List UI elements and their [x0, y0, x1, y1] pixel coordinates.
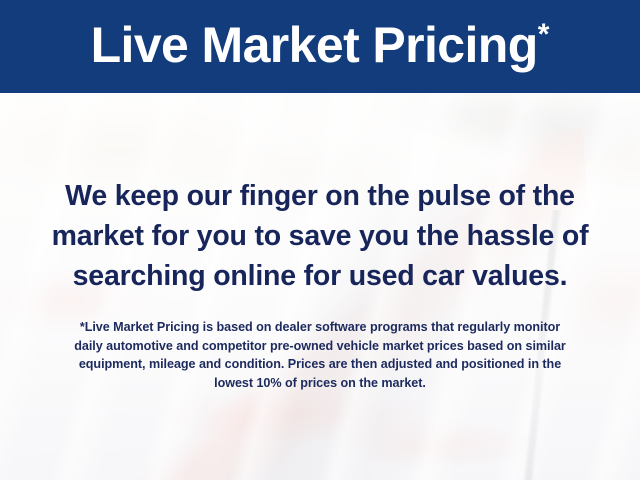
disclaimer-line-2: daily automotive and competitor pre-owne… [0, 337, 640, 356]
title-footnote-marker: * [538, 18, 550, 51]
headline-line-2: market for you to save you the hassle of [0, 216, 640, 256]
disclaimer-line-3: equipment, mileage and condition. Prices… [0, 355, 640, 374]
disclaimer-line-4: lowest 10% of prices on the market. [0, 374, 640, 393]
headline-line-1: We keep our finger on the pulse of the [0, 176, 640, 216]
disclaimer-paragraph: *Live Market Pricing is based on dealer … [0, 318, 640, 392]
headline-line-3: searching online for used car values. [0, 256, 640, 296]
page-title-text: Live Market Pricing [91, 17, 538, 73]
disclaimer-line-1: *Live Market Pricing is based on dealer … [0, 318, 640, 337]
headline-paragraph: We keep our finger on the pulse of the m… [0, 176, 640, 296]
page-title: Live Market Pricing* [91, 20, 550, 74]
header-band: Live Market Pricing* [0, 0, 640, 93]
live-market-pricing-banner: Live Market Pricing* We keep our finger … [0, 0, 640, 480]
